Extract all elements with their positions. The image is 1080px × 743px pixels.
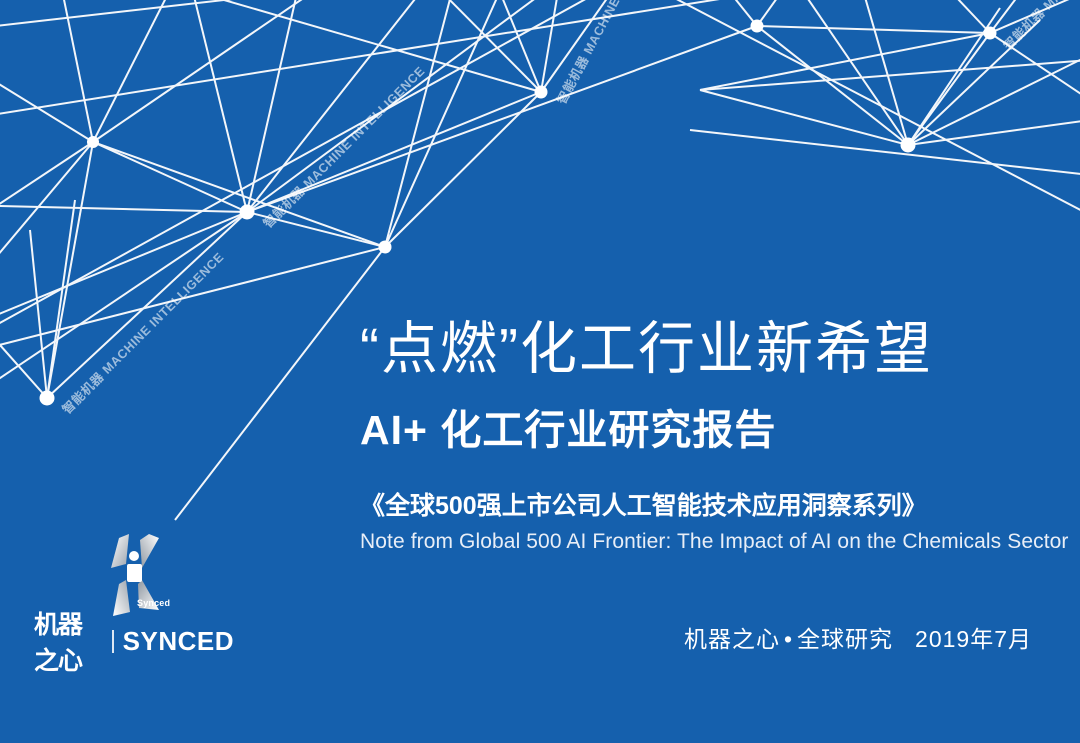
wordmark-english: SYNCED (123, 626, 234, 657)
brand-logo: Synced 机器之心 SYNCED (34, 528, 234, 656)
watermark-machine-intelligence-4: 智能机器 MACHINE INTELLIGENCE (57, 247, 227, 417)
synced-figure-mark-icon: Synced (89, 528, 179, 620)
wordmark-divider (112, 630, 113, 653)
brand-wordmark: 机器之心 SYNCED (34, 626, 234, 656)
watermark-machine-intelligence-1: 智能机器 MACHINE INTELLIGENCE (258, 61, 428, 231)
title-block: “点燃”化工行业新希望 AI+ 化工行业研究报告 《全球500强上市公司人工智能… (360, 318, 1040, 554)
watermark-machine-intelligence-3: 智能机器 MACHINE INTELLIGENCE (998, 0, 1080, 53)
page-subtitle: AI+ 化工行业研究报告 (360, 396, 1040, 456)
byline-publisher: 机器之心 (684, 626, 780, 652)
series-name-chinese: 《全球500强上市公司人工智能技术应用洞察系列》 (360, 486, 1040, 522)
series-name-english: Note from Global 500 AI Frontier: The Im… (360, 530, 1040, 554)
watermark-machine-intelligence-2: 智能机器 MACHINE INTELLIGENCE (551, 0, 672, 107)
page-title: “点燃”化工行业新希望 (360, 318, 1040, 382)
byline-division: 全球研究 (797, 626, 893, 652)
byline: 机器之心•全球研究2019年7月 (684, 620, 1032, 654)
byline-date: 2019年7月 (915, 626, 1032, 652)
synced-mark-caption: Synced (137, 598, 170, 608)
report-cover-slide: 智能机器 MACHINE INTELLIGENCE 智能机器 MACHINE I… (0, 0, 1080, 743)
byline-separator: • (784, 626, 793, 652)
